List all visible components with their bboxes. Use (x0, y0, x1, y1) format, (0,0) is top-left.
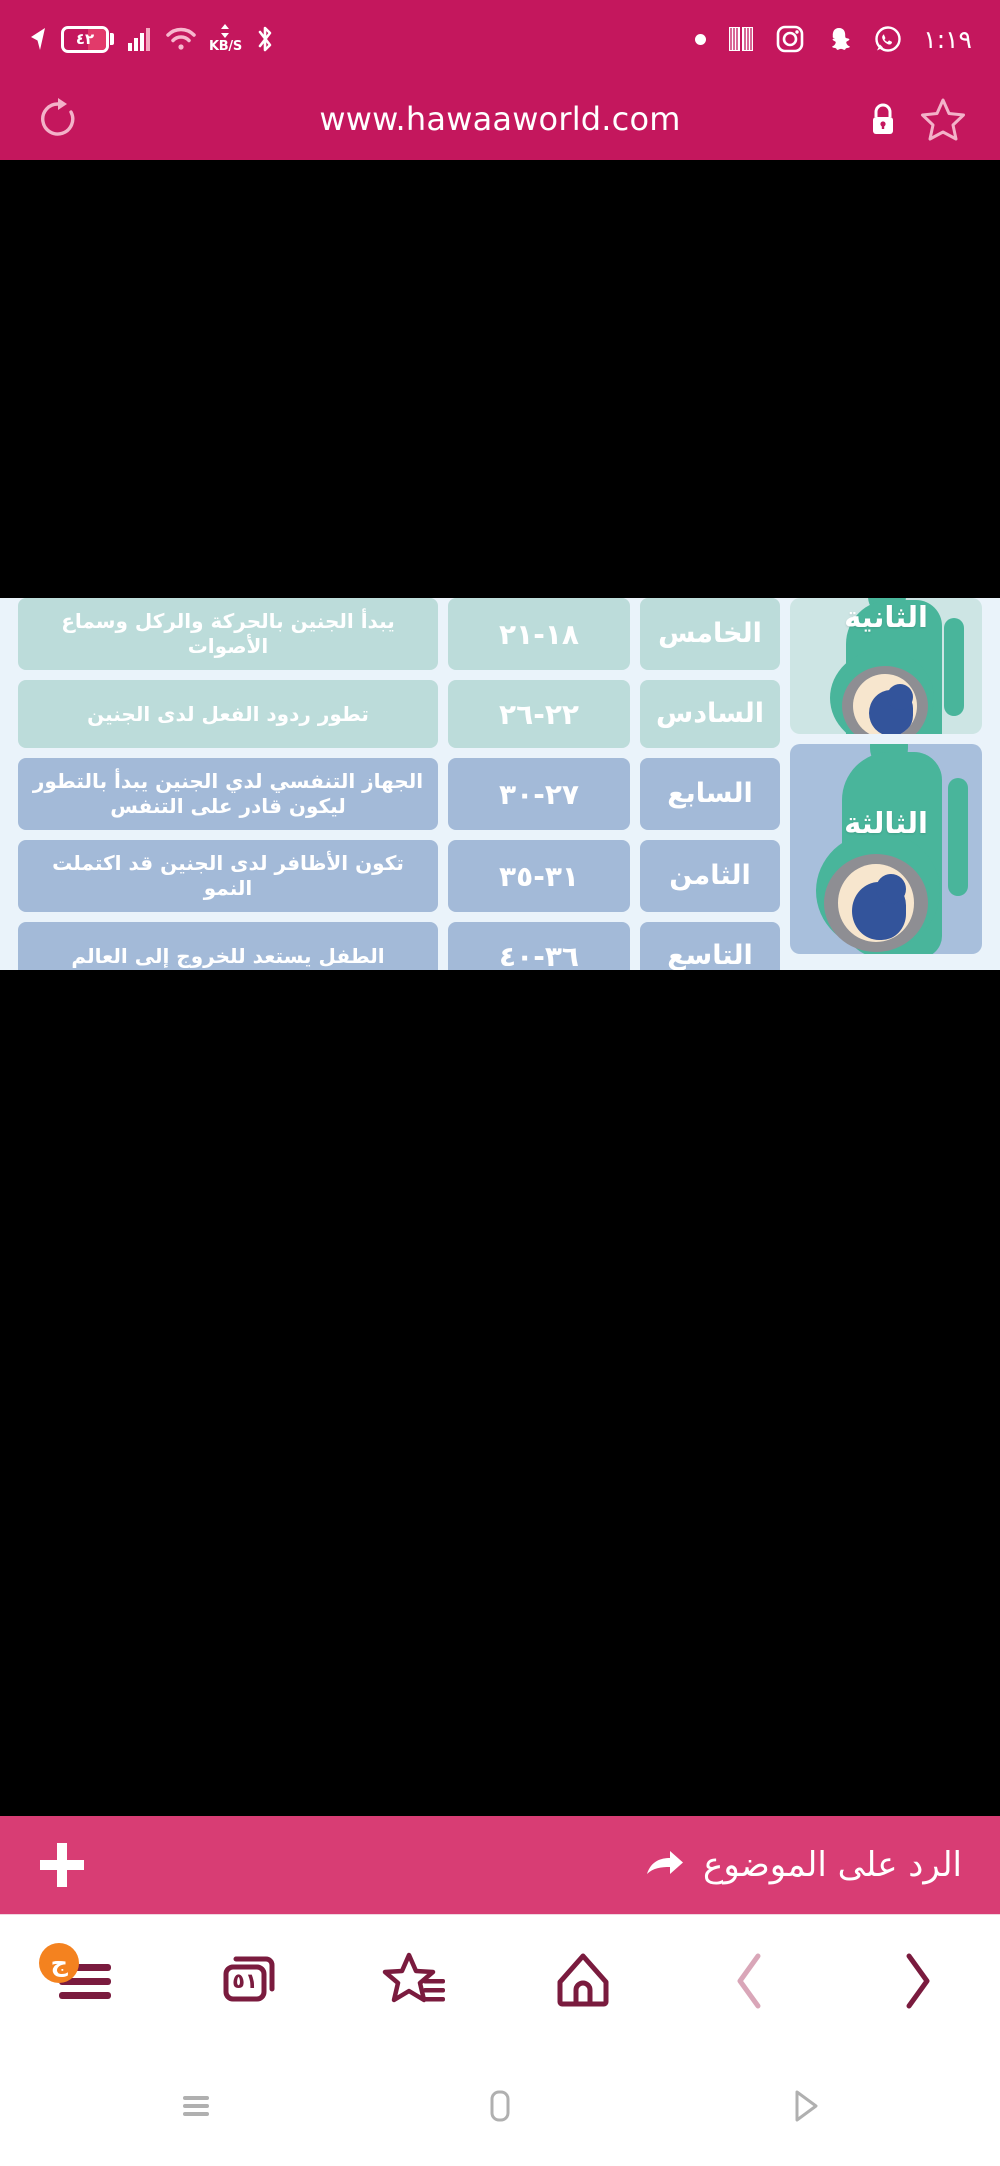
cell-month: السابع (640, 758, 780, 830)
back-button[interactable] (857, 1921, 977, 2041)
home-pill-icon (477, 2083, 523, 2129)
star-list-icon (379, 1945, 455, 2017)
bookmarks-button[interactable] (357, 1921, 477, 2041)
data-speed-icon: KB/S (209, 24, 242, 54)
menu-button[interactable]: ج (23, 1921, 143, 2041)
home-icon (548, 1946, 618, 2016)
cell-month: الخامس (640, 598, 780, 670)
snapchat-icon (825, 25, 853, 53)
fetus-illustration-third (824, 854, 928, 952)
table-row: التاسع ٣٦-٤٠ الطفل يستعد للخروج إلى العا… (18, 922, 780, 970)
back-triangle-icon (781, 2083, 827, 2129)
tabs-button[interactable]: ٥١ (190, 1921, 310, 2041)
trimester-label-third: الثالثة (844, 806, 928, 840)
table-row: السادس ٢٢-٢٦ تطور ردود الفعل لدى الجنين (18, 680, 780, 748)
cell-description: يبدأ الجنين بالحركة والركل وسماع الأصوات (18, 598, 438, 670)
cell-description: تكون الأظافر لدى الجنين قد اكتملت النمو (18, 840, 438, 912)
recents-button[interactable] (159, 2069, 233, 2143)
url-text[interactable]: www.hawaaworld.com (0, 100, 1000, 138)
battery-level-label: ٤٢ (76, 32, 94, 47)
reload-icon[interactable] (34, 95, 82, 143)
reply-arrow-icon[interactable] (641, 1847, 685, 1883)
table-row: السابع ٢٧-٣٠ الجهاز التنفسي لدي الجنين ي… (18, 758, 780, 830)
url-bar-actions (868, 96, 966, 142)
table-row: الخامس ١٨-٢١ يبدأ الجنين بالحركة والركل … (18, 598, 780, 670)
browser-url-bar[interactable]: www.hawaaworld.com (0, 78, 1000, 160)
add-post-button[interactable] (32, 1835, 92, 1895)
trimester-card-second: الثانية (790, 598, 982, 734)
infographic-rows: الخامس ١٨-٢١ يبدأ الجنين بالحركة والركل … (18, 598, 780, 954)
cell-weeks: ١٨-٢١ (448, 598, 630, 670)
home-button[interactable] (463, 2069, 537, 2143)
android-navigation-bar (0, 2046, 1000, 2166)
status-bar-right-group: ١:١٩ (695, 25, 972, 54)
instagram-icon (776, 25, 804, 53)
data-speed-label: KB/S (209, 39, 242, 54)
cell-month: السادس (640, 680, 780, 748)
whatsapp-icon (874, 25, 902, 53)
table-row: الثامن ٣١-٣٥ تكون الأظافر لدى الجنين قد … (18, 840, 780, 912)
pregnancy-stages-infographic: الثانية (0, 598, 1000, 970)
wifi-icon (166, 27, 196, 51)
cell-weeks: ٢٧-٣٠ (448, 758, 630, 830)
location-arrow-icon (28, 26, 48, 52)
trimester-label-second: الثانية (844, 600, 928, 634)
bluetooth-icon (255, 25, 275, 53)
phone-screen: ٤٢ (0, 0, 1000, 2166)
home-button[interactable] (523, 1921, 643, 2041)
cell-description: تطور ردود الفعل لدى الجنين (18, 680, 438, 748)
lock-icon[interactable] (868, 101, 898, 137)
status-bar-left-group: ٤٢ (28, 24, 275, 54)
tabs-icon (214, 1945, 286, 2017)
shredder-app-icon (727, 25, 755, 53)
reply-bar[interactable]: الرد على الموضوع (0, 1816, 1000, 1914)
chevron-left-icon (720, 1946, 780, 2016)
back-button[interactable] (767, 2069, 841, 2143)
recents-icon (173, 2083, 219, 2129)
signal-bars-icon (127, 26, 153, 52)
cell-weeks: ٢٢-٢٦ (448, 680, 630, 748)
cell-weeks: ٣٦-٤٠ (448, 922, 630, 970)
menu-badge: ج (39, 1943, 79, 1983)
dot-indicator-icon (695, 34, 706, 45)
status-bar: ٤٢ (0, 0, 1000, 78)
cell-weeks: ٣١-٣٥ (448, 840, 630, 912)
trimester-card-third: الثالثة (790, 744, 982, 954)
battery-icon: ٤٢ (61, 26, 114, 53)
cell-description: الجهاز التنفسي لدي الجنين يبدأ بالتطور ل… (18, 758, 438, 830)
infographic-table: الثانية (0, 598, 1000, 970)
reply-label[interactable]: الرد على الموضوع (703, 1845, 962, 1885)
cell-description: الطفل يستعد للخروج إلى العالم (18, 922, 438, 970)
chevron-right-icon (887, 1946, 947, 2016)
star-icon[interactable] (920, 96, 966, 142)
status-time-label: ١:١٩ (923, 25, 972, 54)
web-page-content[interactable]: الثانية (0, 160, 1000, 1816)
trimester-column: الثانية (790, 598, 982, 954)
forward-button[interactable] (690, 1921, 810, 2041)
cell-month: التاسع (640, 922, 780, 970)
browser-toolbar: ج ٥١ (0, 1914, 1000, 2046)
cell-month: الثامن (640, 840, 780, 912)
